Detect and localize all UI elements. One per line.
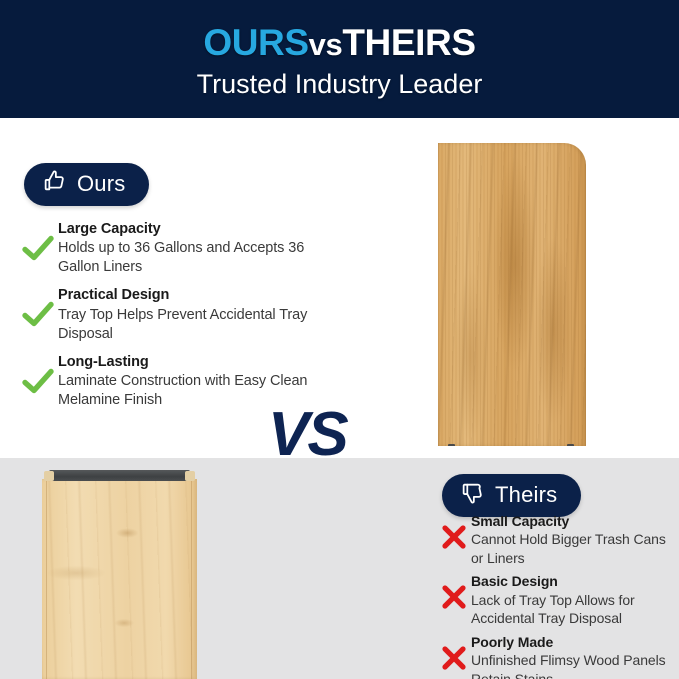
feature-title: Poorly Made xyxy=(471,633,679,651)
list-item: Poorly Made Unfinished Flimsy Wood Panel… xyxy=(437,633,679,679)
list-item: Basic Design Lack of Tray Top Allows for… xyxy=(437,572,679,627)
title-ours: OURS xyxy=(203,22,308,63)
versus-label: VS xyxy=(268,404,347,466)
cabinet-seam-right xyxy=(191,479,192,679)
feature-title: Practical Design xyxy=(58,286,318,305)
page-subtitle: Trusted Industry Leader xyxy=(197,69,483,100)
cross-icon xyxy=(437,572,471,610)
thumbs-up-icon xyxy=(42,169,67,199)
cross-icon xyxy=(437,512,471,550)
feature-description: Unfinished Flimsy Wood Panels Retain Sta… xyxy=(471,651,679,679)
ours-badge: Ours xyxy=(24,163,149,206)
theirs-badge-label: Theirs xyxy=(495,482,557,508)
theirs-feature-list: Small Capacity Cannot Hold Bigger Trash … xyxy=(437,512,679,679)
feature-title: Large Capacity xyxy=(58,220,318,239)
theirs-product-image xyxy=(42,470,197,679)
feature-description: Holds up to 36 Gallons and Accepts 36 Ga… xyxy=(58,239,318,277)
list-item: Practical Design Tray Top Helps Prevent … xyxy=(18,286,318,343)
feature-description: Cannot Hold Bigger Trash Cans or Liners xyxy=(471,530,679,567)
cabinet-foot-left xyxy=(448,444,455,446)
cabinet-cap-left xyxy=(44,471,54,481)
cabinet-cap-right xyxy=(185,471,195,481)
feature-title: Basic Design xyxy=(471,572,679,590)
page-title: OURSvsTHEIRS xyxy=(203,24,475,63)
title-theirs: THEIRS xyxy=(342,22,475,63)
theirs-badge: Theirs xyxy=(442,474,581,517)
thumbs-down-icon xyxy=(460,480,485,510)
list-item: Small Capacity Cannot Hold Bigger Trash … xyxy=(437,512,679,567)
ours-badge-label: Ours xyxy=(77,171,125,197)
comparison-infographic: OURSvsTHEIRS Trusted Industry Leader Our… xyxy=(0,0,679,679)
header-banner: OURSvsTHEIRS Trusted Industry Leader xyxy=(0,0,679,118)
cabinet-body xyxy=(42,479,197,679)
cabinet-seam-left xyxy=(46,479,47,679)
feature-title: Long-Lasting xyxy=(58,353,318,372)
ours-product-image xyxy=(438,143,586,446)
check-icon xyxy=(18,220,58,262)
cross-icon xyxy=(437,633,471,671)
feature-description: Lack of Tray Top Allows for Accidental T… xyxy=(471,591,679,628)
feature-title: Small Capacity xyxy=(471,512,679,530)
feature-description: Tray Top Helps Prevent Accidental Tray D… xyxy=(58,306,318,344)
check-icon xyxy=(18,286,58,328)
cabinet-foot-right xyxy=(567,444,574,446)
check-icon xyxy=(18,353,58,395)
list-item: Large Capacity Holds up to 36 Gallons an… xyxy=(18,220,318,277)
cabinet-top-slab xyxy=(49,470,190,481)
title-vs: vs xyxy=(309,27,343,62)
ours-feature-list: Large Capacity Holds up to 36 Gallons an… xyxy=(18,220,318,419)
